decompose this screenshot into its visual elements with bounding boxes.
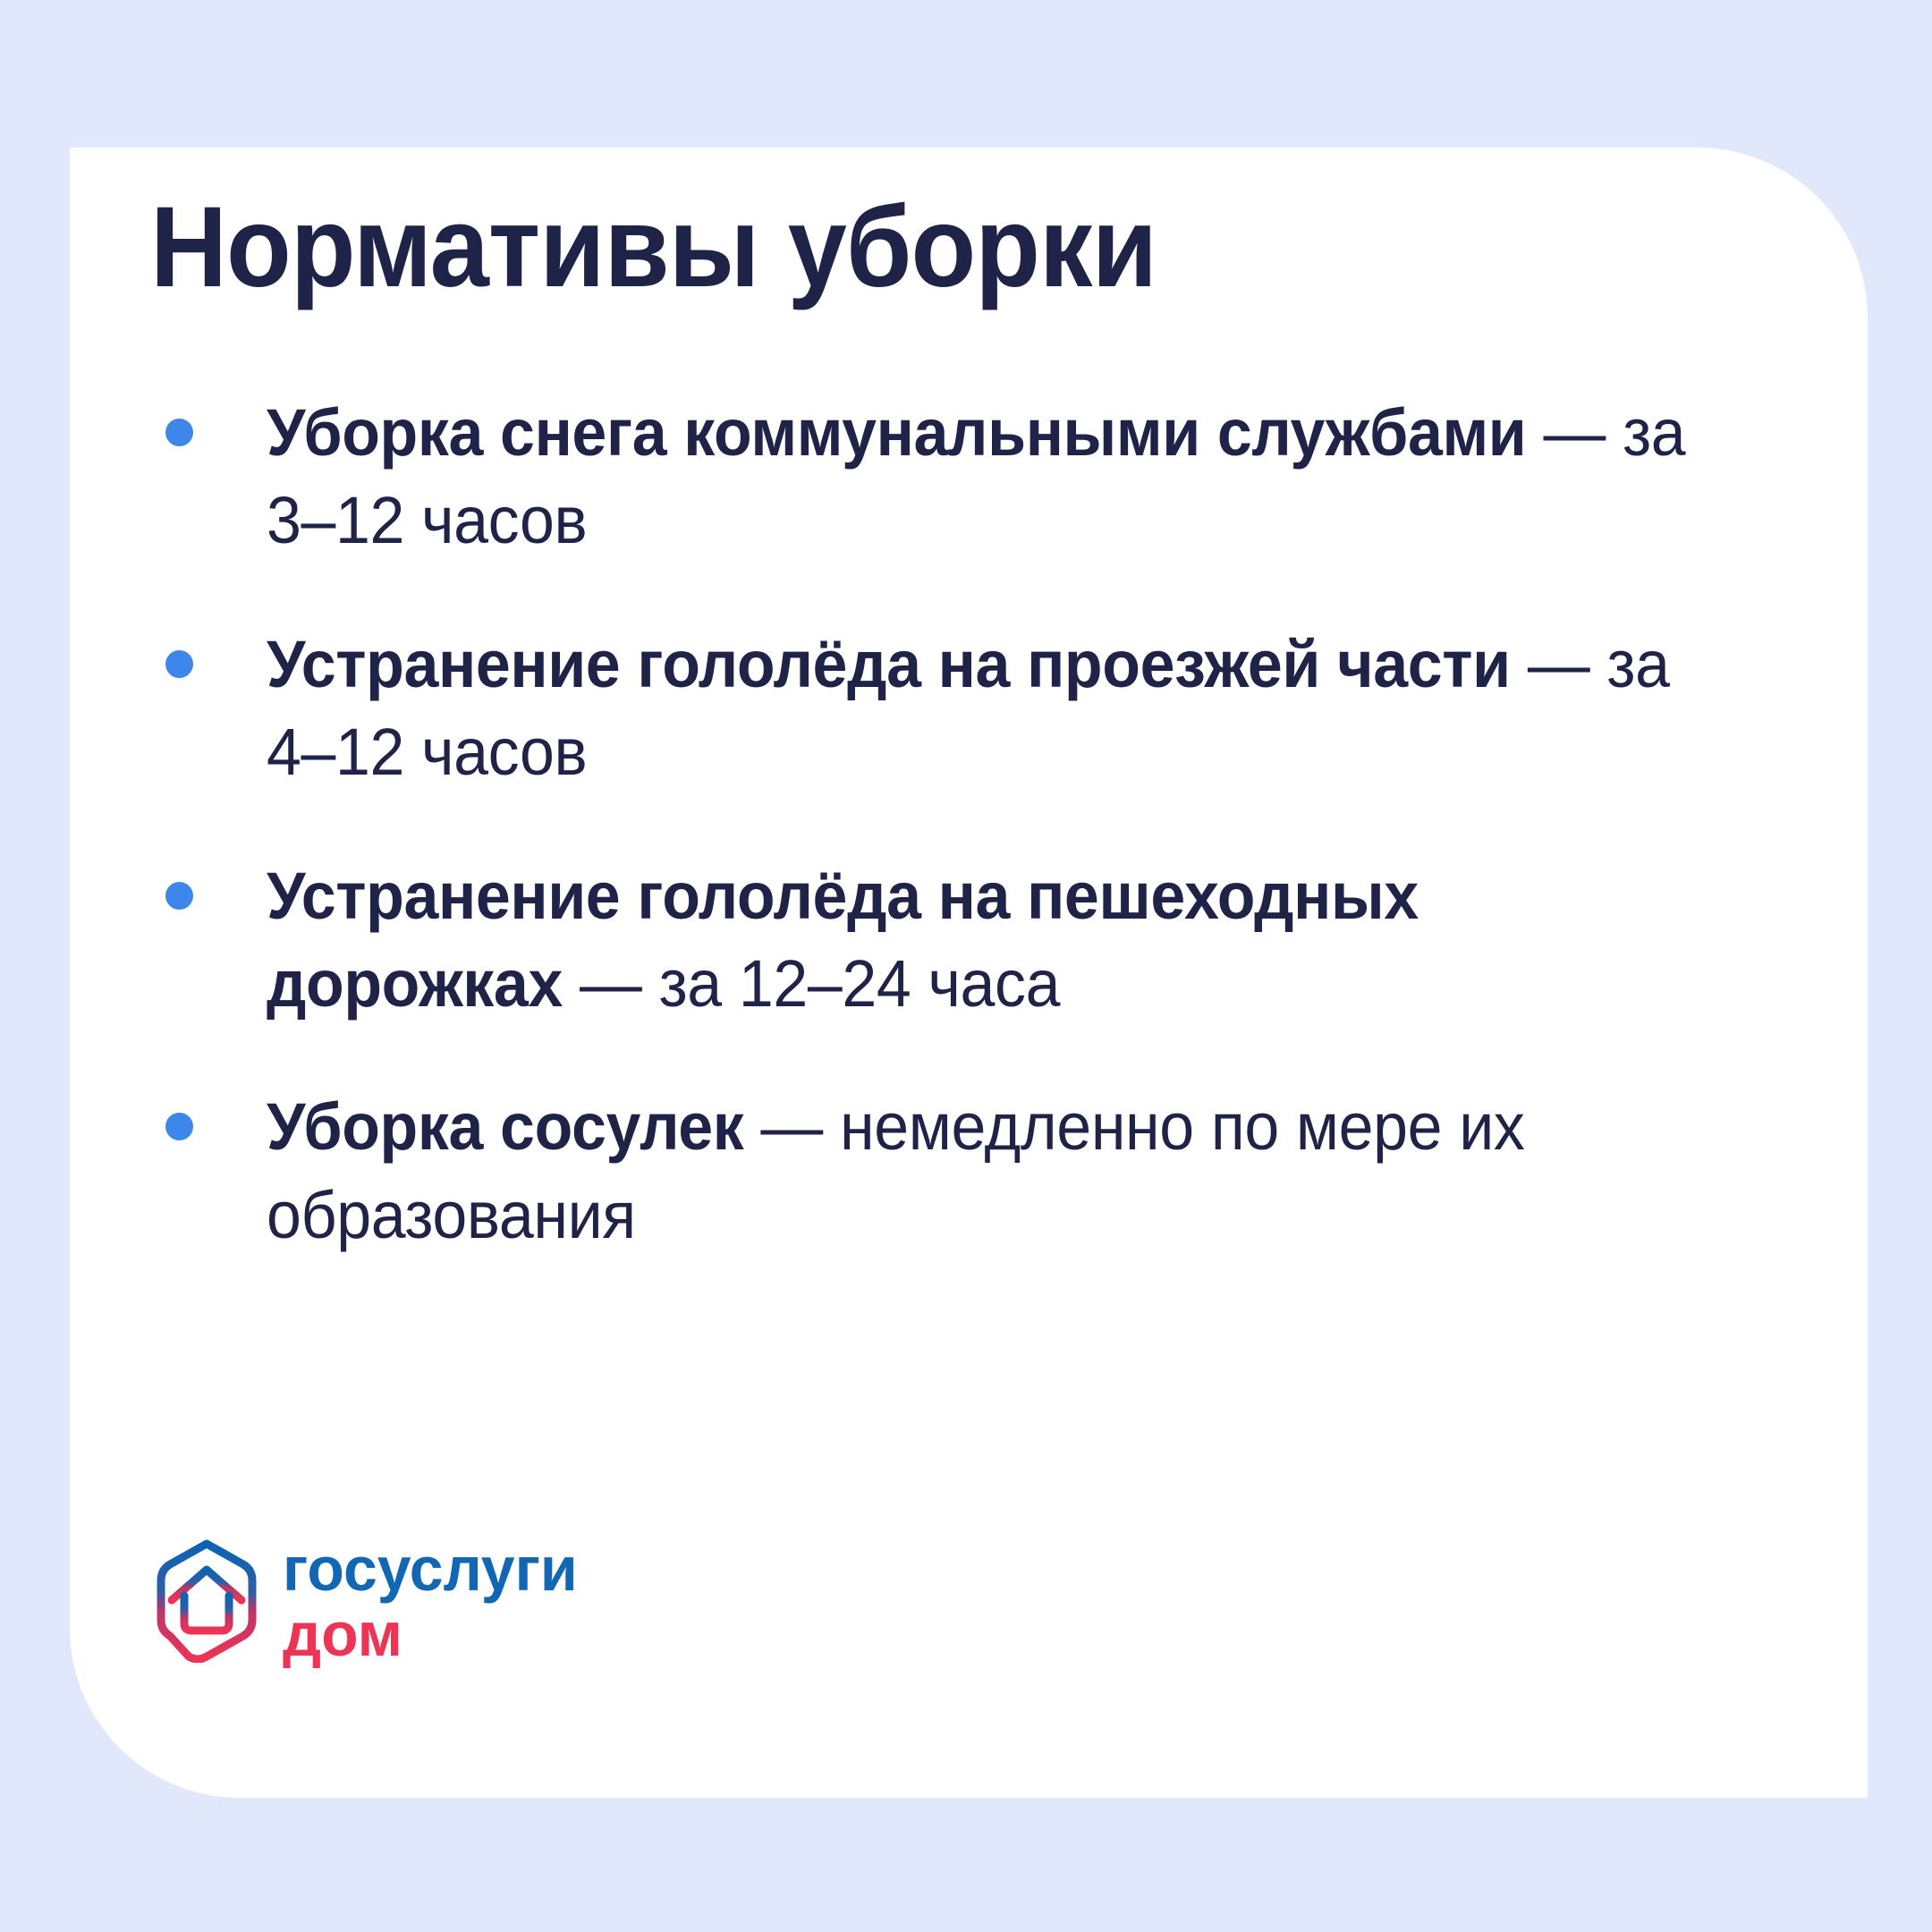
logo-text-gosuslugi: госуслуги: [283, 1539, 578, 1599]
logo-text-dom: дом: [283, 1605, 578, 1665]
bullet-dot-icon: [165, 650, 193, 678]
bullet-dot-icon: [165, 419, 193, 446]
page-title: Нормативы уборки: [150, 188, 1157, 308]
list-item: Устранение гололёда на пешеходных дорожк…: [150, 852, 1787, 1029]
list-item-text: Устранение гололёда на проезжей части — …: [267, 621, 1704, 797]
bullet-dot-icon: [165, 882, 193, 910]
list-item-text: Уборка снега коммунальными службами — за…: [267, 389, 1704, 565]
list-item-lead: Уборка сосулек: [267, 1089, 743, 1164]
house-in-hexagon-icon: [148, 1538, 265, 1663]
norms-list: Уборка снега коммунальными службами — за…: [150, 389, 1787, 1259]
list-item-lead: Уборка снега коммунальными службами: [267, 395, 1526, 470]
list-item-lead: Устранение гололёда на проезжей части: [267, 627, 1511, 701]
gosuslugi-dom-logo: госуслуги дом: [148, 1536, 587, 1664]
list-item-text: Уборка сосулек — немедленно по мере их о…: [267, 1083, 1704, 1259]
info-card: Нормативы уборки Уборка снега коммунальн…: [70, 148, 1868, 1798]
list-item-text: Устранение гололёда на пешеходных дорожк…: [267, 852, 1704, 1029]
logo-wordmark: госуслуги дом: [283, 1536, 587, 1664]
list-item: Уборка снега коммунальными службами — за…: [150, 389, 1787, 565]
list-item: Уборка сосулек — немедленно по мере их о…: [150, 1083, 1787, 1259]
bullet-dot-icon: [165, 1113, 193, 1140]
poster-canvas: Нормативы уборки Уборка снега коммунальн…: [0, 0, 1932, 1932]
list-item: Устранение гололёда на проезжей части — …: [150, 621, 1787, 797]
list-item-tail: — за 12–24 часа: [563, 946, 1060, 1021]
